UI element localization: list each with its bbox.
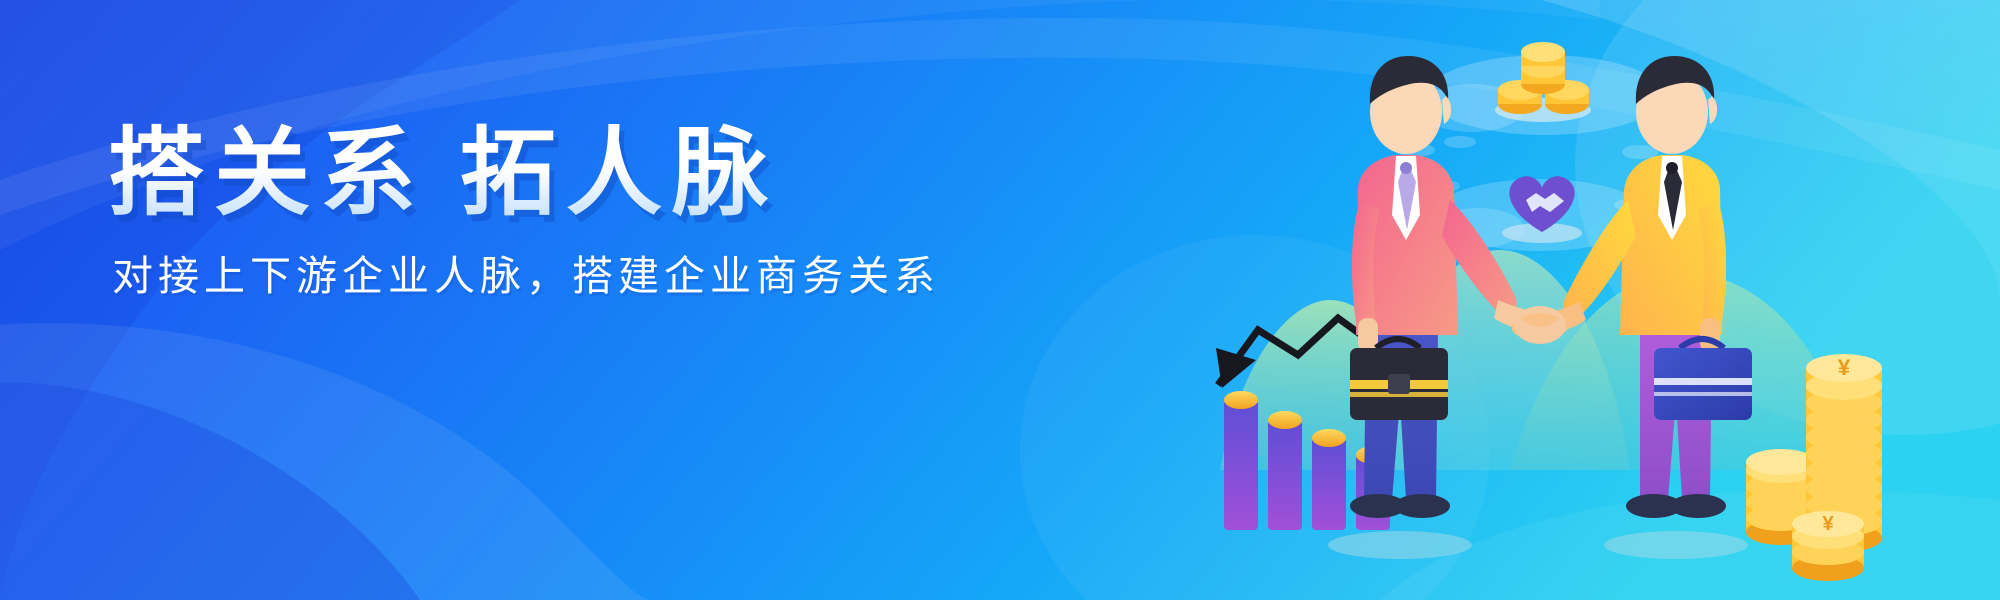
briefcase-dark <box>1350 339 1448 420</box>
coin-stack-small: ¥ <box>1792 511 1864 581</box>
page-subtitle: 对接上下游企业人脉，搭建企业商务关系 <box>112 250 1008 303</box>
briefcase-blue <box>1654 339 1752 420</box>
shadow <box>1328 531 1472 559</box>
promo-banner: 搭关系拓人脉 对接上下游企业人脉，搭建企业商务关系 <box>0 0 2000 600</box>
coin-yen-symbol: ¥ <box>1822 513 1834 535</box>
shadow <box>1604 531 1748 559</box>
page-title: 搭关系拓人脉 <box>108 120 1008 228</box>
copy-block: 搭关系拓人脉 对接上下游企业人脉，搭建企业商务关系 <box>108 120 1008 303</box>
coin-yen-symbol: ¥ <box>1838 355 1851 380</box>
headline-part-2: 拓人脉 <box>460 120 778 227</box>
handshake <box>1514 306 1566 344</box>
shoe-right <box>1394 494 1450 518</box>
hero-illustration: ¥ ¥ <box>1210 0 1950 600</box>
headline-part-1: 搭关系 <box>108 120 426 227</box>
shoe-right <box>1670 494 1726 518</box>
